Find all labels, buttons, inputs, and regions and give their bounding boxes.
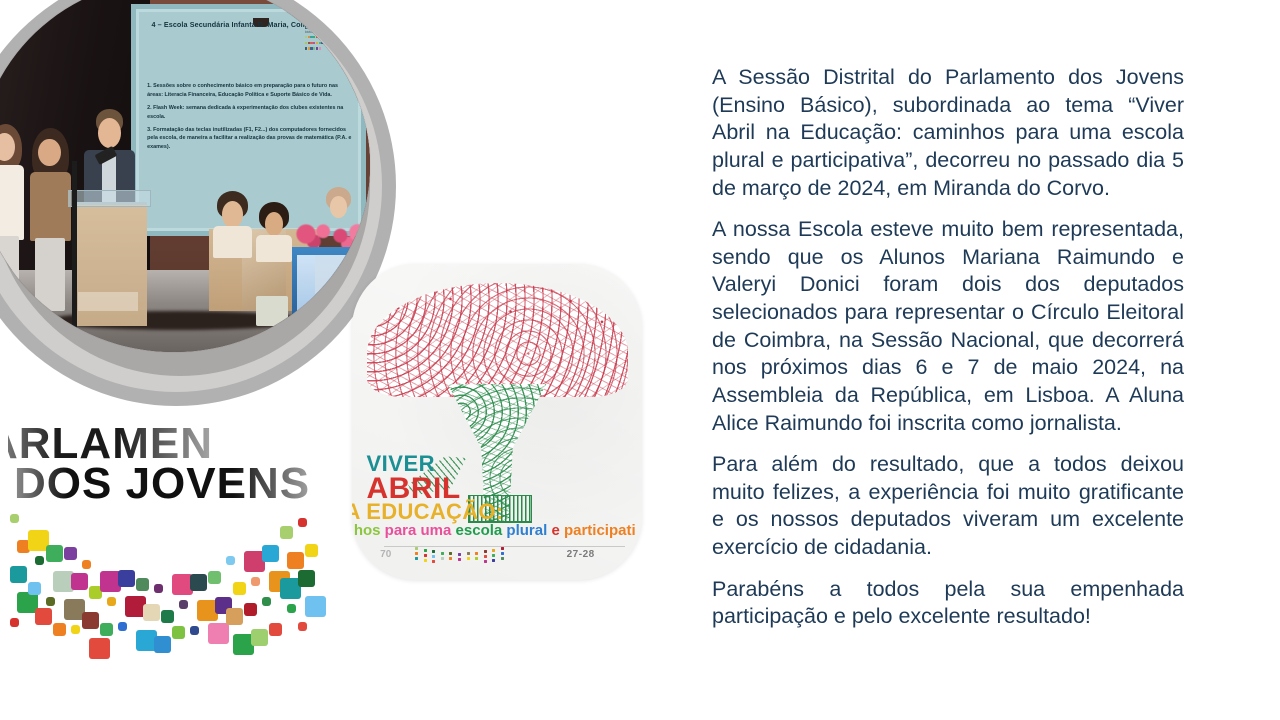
canopy-people-texture — [367, 283, 628, 397]
head — [38, 139, 60, 166]
lectern-sticker — [78, 292, 138, 311]
article-paragraph-4: Parabéns a todos pela sua empenhada part… — [712, 576, 1184, 631]
torso — [213, 226, 252, 258]
stage-photo-image: 4 – Escola Secundária Infanta D. Maria, … — [0, 0, 370, 352]
projected-slide-body: 1. Sessões sobre o conhecimento básico e… — [147, 82, 352, 156]
stage-box — [256, 296, 287, 326]
poster-line-caminhos: inhos para uma escola plural e participa… — [352, 523, 642, 539]
projected-bullet-1: 1. Sessões sobre o conhecimento básico e… — [147, 82, 352, 99]
projected-slide-title: 4 – Escola Secundária Infanta D. Maria, … — [147, 20, 325, 30]
pj-logo-wordmark: ARLAMEN DOS JOVENS — [8, 422, 320, 500]
projected-logo-line3: básico — [305, 30, 355, 34]
poster-footer-faded-text: 70 — [380, 549, 391, 560]
panelist-2 — [256, 202, 291, 262]
head — [265, 212, 283, 236]
viver-abril-poster: VIVER ABRIL A EDUCAÇÃO: inhos para uma e… — [352, 264, 642, 580]
projected-bullet-2: 2. Flash Week: semana dedicada à experim… — [147, 104, 352, 121]
poster-dates: 27-28 — [567, 549, 595, 560]
flower-arrangement — [292, 217, 370, 251]
projected-slide-logo: PARLAMENTO DOS JOVENS básico — [305, 20, 355, 52]
student-standing-2 — [29, 128, 72, 311]
article-paragraph-2: A nossa Escola esteve muito bem represen… — [712, 216, 1184, 437]
poster-line-abril: ABRIL — [367, 475, 643, 503]
legs — [35, 238, 65, 311]
poster-footer: 70 27-28 — [375, 545, 624, 573]
head — [222, 201, 243, 228]
tree-canopy-crowd — [367, 283, 628, 397]
poster-word-plural: plural — [506, 522, 547, 539]
article-paragraph-1: A Sessão Distrital do Parlamento dos Jov… — [712, 64, 1184, 202]
student-standing-1 — [0, 124, 25, 311]
torso — [256, 235, 291, 263]
poster-line-educacao: A EDUCAÇÃO: — [352, 502, 642, 523]
auditorium-scene: 4 – Escola Secundária Infanta D. Maria, … — [0, 0, 370, 352]
head — [98, 118, 121, 148]
lectern — [72, 202, 146, 325]
microphone-stand — [72, 161, 77, 333]
panelist-1 — [213, 191, 252, 258]
pj-logo-mosaic-icon — [12, 514, 320, 676]
article-text-column: A Sessão Distrital do Parlamento dos Jov… — [712, 64, 1184, 631]
projected-bullet-3: 3. Formatação das teclas inutilizadas (F… — [147, 126, 352, 151]
poster-word-participativa: participati — [564, 522, 636, 539]
legs — [0, 236, 19, 311]
poster-word-e: e — [551, 522, 559, 539]
torso — [0, 165, 24, 240]
poster-word-escola: escola — [456, 522, 503, 539]
poster-mosaic-icon — [415, 547, 500, 572]
poster-slogan: VIVER ABRIL A EDUCAÇÃO: inhos para uma e… — [367, 454, 643, 539]
torso — [30, 172, 71, 242]
head — [330, 196, 348, 218]
poster-word-para-uma: para uma — [385, 522, 452, 539]
projected-logo-mosaic — [305, 36, 355, 52]
poster-word-caminhos: inhos — [352, 522, 381, 539]
article-paragraph-3: Para além do resultado, que a todos deix… — [712, 451, 1184, 562]
lectern-glass-top — [68, 190, 151, 207]
parlamento-dos-jovens-logo: ARLAMEN DOS JOVENS — [8, 422, 320, 680]
pj-logo-line2: DOS JOVENS — [14, 462, 310, 500]
slide-canvas: 4 – Escola Secundária Infanta D. Maria, … — [0, 0, 1280, 720]
